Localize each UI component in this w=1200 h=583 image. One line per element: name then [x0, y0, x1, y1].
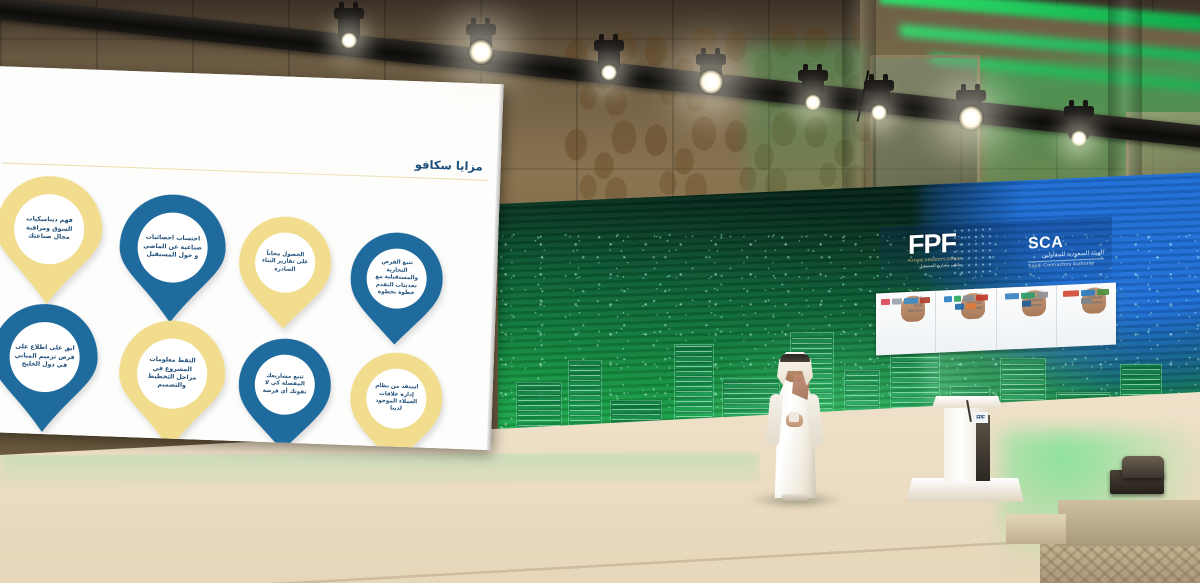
- spotlight-beam-icon: [601, 64, 618, 81]
- pin-label-text: استفد من نظام إدارة علاقات العملاء الموج…: [371, 383, 422, 414]
- spotlight-beam-icon: [468, 39, 494, 65]
- spotlight-body: [1068, 114, 1090, 140]
- sponsor-logo: [1081, 289, 1095, 296]
- slide-pin-3: الحصول مجاناً على تقارير البناء الصادرة: [235, 215, 335, 334]
- spotlight-beam-icon: [871, 104, 888, 121]
- spotlight-4: [700, 62, 722, 88]
- pin-label-text: التقط معلومات المشروع في مراحل التخطيط و…: [142, 356, 203, 392]
- spotlight-8: [1068, 114, 1090, 140]
- spotlight-2: [470, 32, 492, 58]
- sponsor-logo: [904, 298, 918, 305]
- sponsor-logo: [1005, 293, 1019, 300]
- spotlight-beam-icon: [341, 32, 358, 49]
- spotlight-yoke: [1064, 106, 1094, 117]
- podium-dark-panel: [976, 415, 990, 481]
- sponsor-logo: [944, 296, 952, 302]
- sponsor-logo: [920, 297, 930, 303]
- pin-label-text: الحصول مجاناً على تقارير البناء الصادرة: [260, 251, 311, 275]
- slide-title: مزايا سكافو: [415, 157, 483, 173]
- spotlight-body: [802, 78, 824, 104]
- spotlight-yoke: [798, 70, 828, 81]
- sponsor-logo: [1021, 292, 1035, 299]
- spotlight-beam-icon: [698, 69, 724, 95]
- spotlight-yoke: [864, 80, 894, 91]
- slide-pin-2: احتساب احصائيات صناعية عن الماضي و حول ا…: [115, 193, 230, 329]
- sponsor-logo: [954, 296, 961, 302]
- slide-pin-1: فهم ديناميكيات السوق ومراقبة مجال صناعتك: [0, 174, 106, 310]
- slide-pin-5: ابق على اطلاع على فرص ترميم المباني في د…: [0, 302, 101, 438]
- slide-pin-4: تتبع الفرص التجارية والمستقبلية مع تحديث…: [346, 231, 446, 350]
- speaker-igal: [780, 354, 810, 362]
- sponsor-tier-cell-3: الراعي الماسيDiamond Sponsor: [996, 285, 1056, 350]
- spotlight-body: [868, 88, 890, 114]
- sponsor-tier-cell-4: الشريك الاستراتيجيStrategic Partner: [1056, 283, 1116, 348]
- spotlight-beam-icon: [805, 94, 822, 111]
- podium-fpf-logo: FPF: [973, 412, 988, 423]
- spotlight-1: [338, 16, 360, 42]
- conference-stage-photo: FPF FUTURE PROJECTS FORUM ملتقى مشاريع ا…: [0, 0, 1200, 583]
- slide-pin-8: استفد من نظام إدارة علاقات العملاء الموج…: [346, 351, 446, 450]
- fpf-logo: FPF FUTURE PROJECTS FORUM ملتقى مشاريع ا…: [908, 230, 961, 269]
- sponsor-logo: [1097, 289, 1109, 296]
- stage-step-lower: [1006, 514, 1066, 544]
- spotlight-7: [960, 98, 982, 124]
- podium-base: [906, 478, 1024, 502]
- stage-floor-reflection: [0, 452, 760, 488]
- pin-label-text: فهم ديناميكيات السوق ومراقبة مجال صناعتك: [19, 215, 80, 242]
- sponsor-tier-label-en: Gold Sponsor: [901, 303, 922, 313]
- spotlight-yoke: [594, 40, 624, 51]
- slide-pin-6: التقط معلومات المشروع في مراحل التخطيط و…: [114, 319, 229, 450]
- spotlight-yoke: [956, 90, 986, 101]
- sponsor-logo: [963, 295, 974, 301]
- sponsor-logo: [881, 299, 890, 305]
- spotlight-yoke: [334, 8, 364, 19]
- sponsor-logo-row: [878, 297, 933, 306]
- spotlight-body: [470, 32, 492, 58]
- pin-label-text: ابق على اطلاع على فرص ترميم المباني في د…: [14, 343, 75, 370]
- sponsor-logo: [1022, 300, 1031, 306]
- fpf-acronym: FPF: [908, 230, 961, 258]
- sponsor-tier-cell-1: الراعي الذهبيGold Sponsor: [876, 291, 935, 356]
- spotlight-5: [802, 78, 824, 104]
- speaker-presentation-remote: [789, 412, 799, 422]
- pin-label-text: تتبع مشاريعك المفضلة كي لا تفوتك أي فرصة: [259, 373, 310, 397]
- stage-monitor-speaker-2: [1122, 456, 1164, 478]
- venue-carpet: [1040, 540, 1200, 583]
- event-logo-band: FPF FUTURE PROJECTS FORUM ملتقى مشاريع ا…: [880, 217, 1112, 290]
- sponsor-logo: [1037, 292, 1048, 298]
- spotlight-6: [868, 88, 890, 114]
- sponsor-tier-cell-2: الراعي البلاتينيPlatinum Sponsor: [935, 288, 995, 353]
- spotlight-3: [598, 48, 620, 74]
- pin-label-text: احتساب احصائيات صناعية عن الماضي و حول ا…: [142, 234, 203, 261]
- speaker-person: [758, 352, 832, 502]
- sponsor-logo: [892, 298, 902, 304]
- presentation-slide: مزايا سكافو فهم ديناميكيات السوق ومراقبة…: [0, 66, 504, 450]
- spotlight-body: [960, 98, 982, 124]
- presentation-screen: مزايا سكافو فهم ديناميكيات السوق ومراقبة…: [0, 66, 504, 450]
- spotlight-beam-icon: [1071, 130, 1088, 147]
- speaker-feet: [782, 494, 808, 501]
- sca-logo: SCA الهيئة السعودية للمقاولين Saudi Cont…: [1028, 233, 1104, 269]
- pin-label-text: تتبع الفرص التجارية والمستقبلية مع تحديث…: [371, 259, 422, 298]
- spotlight-beam-icon: [958, 105, 984, 131]
- slide-pin-7: تتبع مشاريعك المفضلة كي لا تفوتك أي فرصة: [234, 337, 334, 450]
- spotlight-yoke: [696, 54, 726, 65]
- spotlight-body: [598, 48, 620, 74]
- spotlight-yoke: [466, 24, 496, 35]
- sponsor-logo: [1081, 298, 1092, 304]
- spotlight-body: [338, 16, 360, 42]
- sponsor-logo: [976, 294, 988, 301]
- sponsor-logo: [955, 303, 964, 309]
- sponsor-logo-row: [938, 294, 993, 311]
- spotlight-body: [700, 62, 722, 88]
- sponsor-logo: [966, 303, 976, 309]
- sponsor-logo: [1063, 290, 1079, 297]
- sponsor-strip: الراعي الذهبيGold Sponsorالراعي البلاتين…: [876, 283, 1116, 356]
- stage-step-upper: [1058, 500, 1200, 546]
